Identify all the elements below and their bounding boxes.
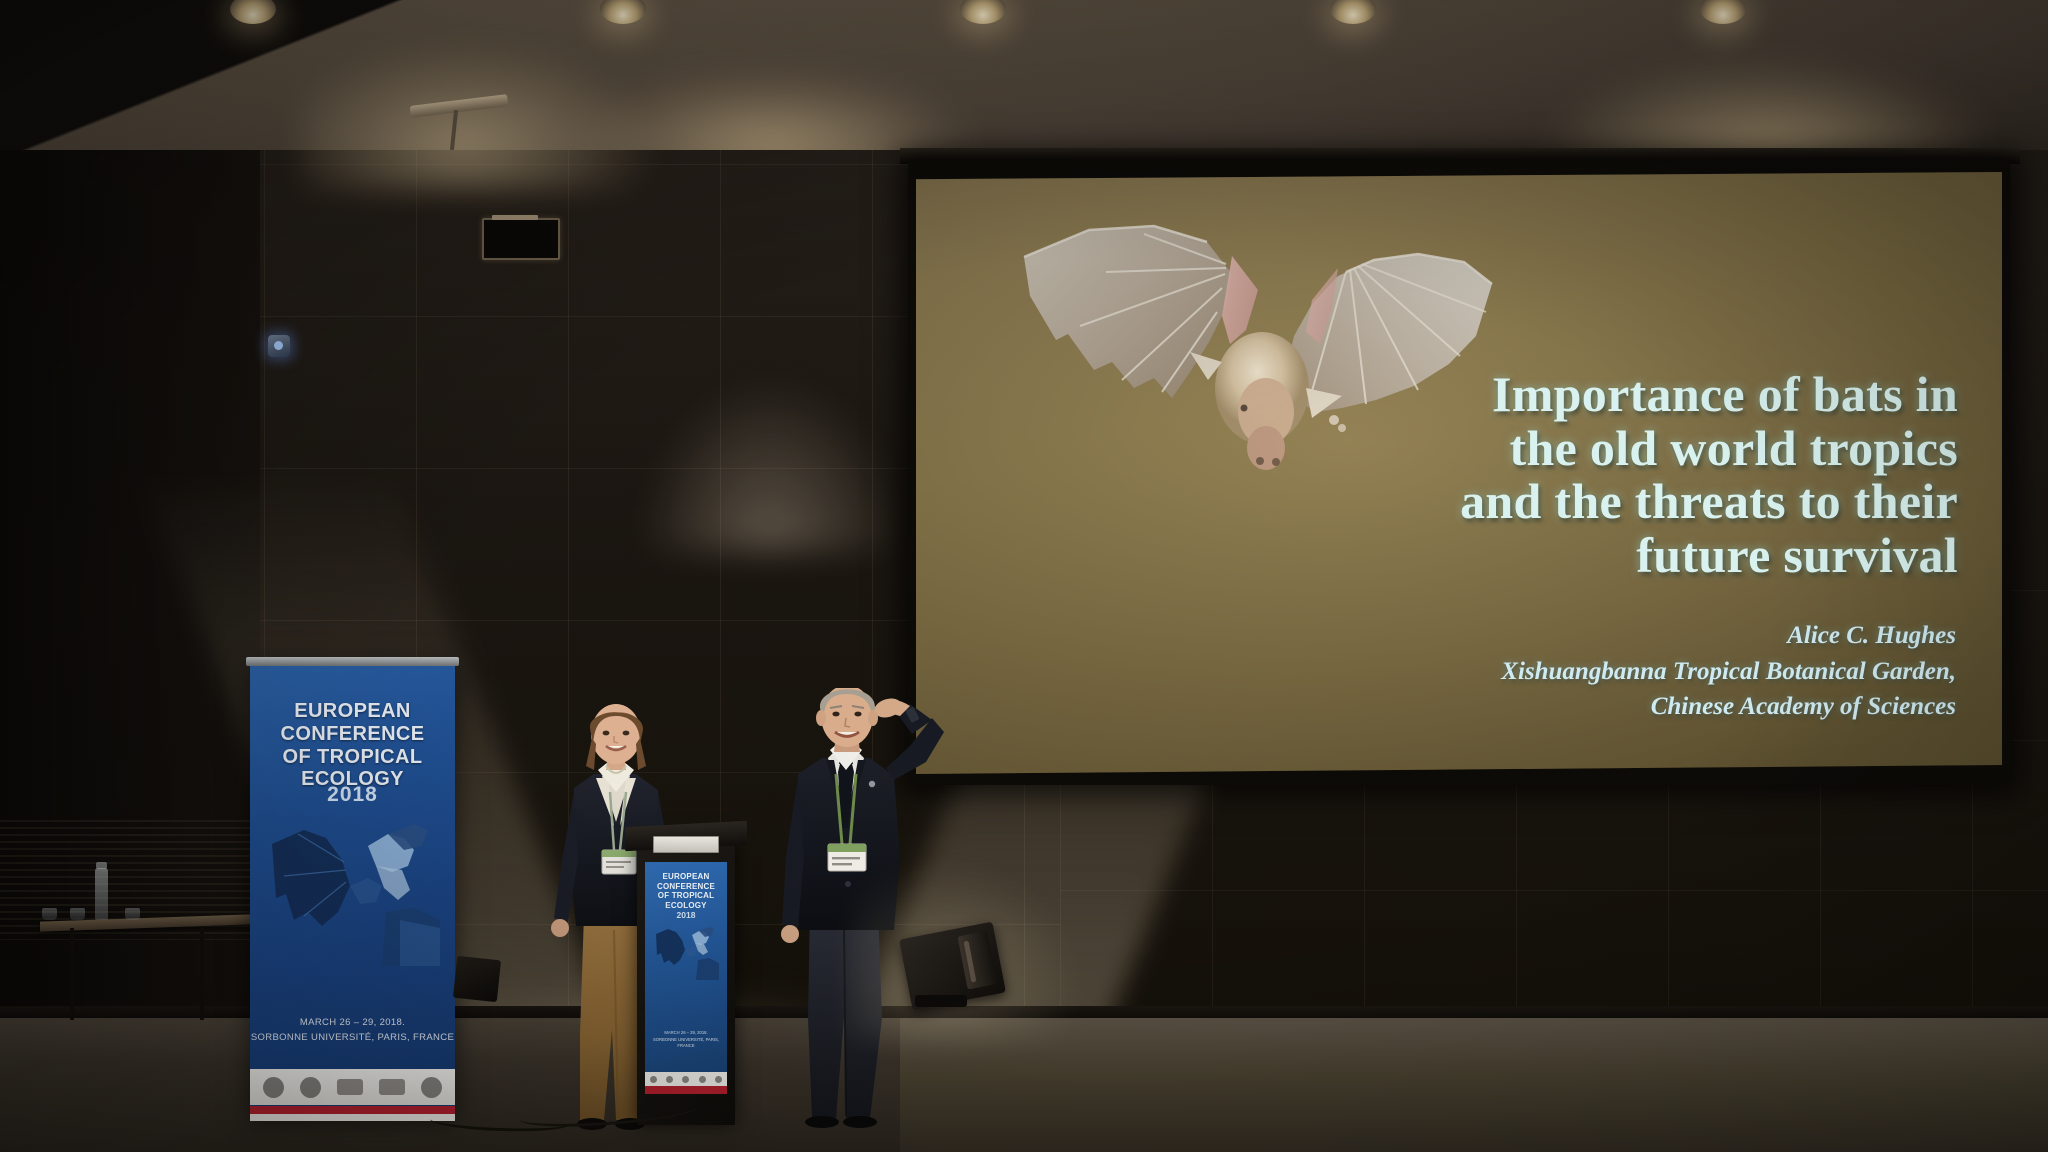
lectern-sign-date-line: MARCH 26 – 29, 2018. xyxy=(645,1030,727,1037)
conference-rollup-banner: EUROPEAN CONFERENCE OF TROPICAL ECOLOGY … xyxy=(250,666,455,1121)
banner-date-line: MARCH 26 – 29, 2018. xyxy=(250,1016,455,1031)
slide-title: Importance of bats in the old world trop… xyxy=(1318,368,1958,582)
water-bottle xyxy=(95,868,108,920)
floor-light-lens xyxy=(957,931,997,990)
lectern-sign: EUROPEAN CONFERENCE OF TROPICAL ECOLOGY … xyxy=(645,862,727,1094)
sponsor-logo-icon xyxy=(666,1076,673,1083)
banner-dates: MARCH 26 – 29, 2018. SORBONNE UNIVERSITÉ… xyxy=(250,1016,455,1045)
side-table-leg xyxy=(200,928,204,1020)
sponsor-logo-icon xyxy=(379,1079,405,1095)
lectern-sponsor-logos xyxy=(645,1072,727,1086)
banner-bat-illustration-icon xyxy=(264,816,444,966)
sponsor-logo-icon xyxy=(650,1076,657,1083)
projection-booth-window xyxy=(482,218,560,260)
lectern-sign-title-line: OF TROPICAL xyxy=(645,891,727,901)
lectern-sign-title-line: CONFERENCE xyxy=(645,882,727,892)
sponsor-logo-icon xyxy=(682,1076,689,1083)
banner-location-line: SORBONNE UNIVERSITÉ, PARIS, FRANCE xyxy=(250,1031,455,1046)
drinking-glass xyxy=(125,908,140,920)
slide-affiliation-line: Xishuangbanna Tropical Botanical Garden, xyxy=(1336,654,1956,690)
banner-title-line: OF TROPICAL xyxy=(250,746,455,769)
slide-title-line: Importance of bats in xyxy=(1318,368,1958,422)
banner-title-line: EUROPEAN xyxy=(250,700,455,723)
downlight-icon xyxy=(960,0,1006,24)
floor-equipment-box xyxy=(453,956,501,1002)
slide-title-line: and the threats to their xyxy=(1318,475,1958,529)
floor-light-base xyxy=(915,995,967,1007)
slide-affiliation-line: Chinese Academy of Sciences xyxy=(1336,689,1956,725)
slide-title-line: the old world tropics xyxy=(1318,422,1958,476)
banner-top-rail xyxy=(246,657,459,666)
sponsor-logo-icon xyxy=(715,1076,722,1083)
drinking-glass xyxy=(70,908,85,920)
projection-screen-frame: Importance of bats in the old world trop… xyxy=(908,160,2010,785)
lectern: EUROPEAN CONFERENCE OF TROPICAL ECOLOGY … xyxy=(637,840,735,1125)
banner-year: 2018 xyxy=(250,783,455,807)
water-bottle-cap xyxy=(96,862,107,869)
auditorium-scene: Importance of bats in the old world trop… xyxy=(0,0,2048,1152)
spotlight-apex-glow xyxy=(640,380,900,550)
lectern-red-stripe xyxy=(645,1086,727,1094)
uplight-glow xyxy=(300,40,660,190)
lectern-sign-location-line: SORBONNE UNIVERSITÉ, PARIS, FRANCE xyxy=(645,1037,727,1050)
banner-title: EUROPEAN CONFERENCE OF TROPICAL ECOLOGY xyxy=(250,700,455,791)
lectern-sign-year: 2018 xyxy=(645,910,727,920)
side-table-leg xyxy=(70,928,74,1020)
wall-indicator-dot xyxy=(274,341,283,350)
lectern-nameplate xyxy=(653,836,719,853)
sponsor-logo-icon xyxy=(300,1077,321,1098)
booth-bar xyxy=(492,215,538,220)
downlight-icon xyxy=(1330,0,1376,24)
lectern-sign-title: EUROPEAN CONFERENCE OF TROPICAL ECOLOGY xyxy=(645,872,727,910)
sponsor-logo-icon xyxy=(337,1079,363,1095)
banner-sponsor-logos xyxy=(250,1069,455,1105)
lectern-sign-title-line: EUROPEAN xyxy=(645,872,727,882)
slide-author-name: Alice C. Hughes xyxy=(1336,618,1956,654)
downlight-icon xyxy=(1700,0,1746,24)
drinking-glass xyxy=(42,908,57,920)
slide-author-block: Alice C. Hughes Xishuangbanna Tropical B… xyxy=(1336,618,1956,725)
sponsor-logo-icon xyxy=(699,1076,706,1083)
wall-indicator-light xyxy=(268,335,290,357)
banner-title-line: CONFERENCE xyxy=(250,723,455,746)
slide-title-line: future survival xyxy=(1318,529,1958,583)
downlight-icon xyxy=(600,0,646,24)
lectern-sign-dates: MARCH 26 – 29, 2018. SORBONNE UNIVERSITÉ… xyxy=(645,1030,727,1050)
banner-bottom-edge xyxy=(250,1114,455,1121)
lectern-sign-title-line: ECOLOGY xyxy=(645,901,727,911)
sponsor-logo-icon xyxy=(421,1077,442,1098)
projection-screen: Importance of bats in the old world trop… xyxy=(916,172,2002,774)
sponsor-logo-icon xyxy=(263,1077,284,1098)
lectern-bat-illustration-icon xyxy=(653,924,719,980)
